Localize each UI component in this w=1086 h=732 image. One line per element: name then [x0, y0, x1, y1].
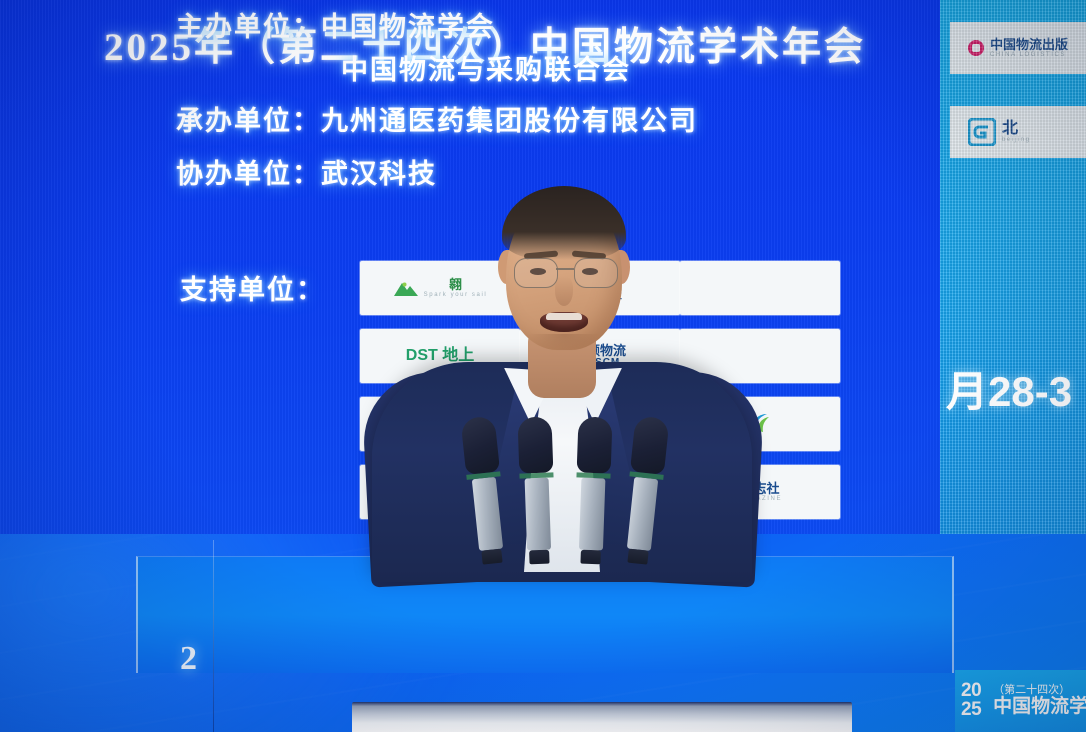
microphone-1 — [460, 416, 509, 566]
credit-row-host: 主办单位：中国物流学会 — [176, 14, 936, 41]
credit-row-host2: 中国物流与采购联合会 — [341, 57, 936, 84]
g-icon — [968, 118, 996, 146]
right-tile-beijing: 北 beijing — [950, 106, 1086, 158]
speaker-hair — [502, 186, 626, 260]
right-panel-date: 月28-3 — [946, 358, 1072, 419]
glasses-lens-left — [514, 258, 558, 288]
microphone-4-base — [627, 549, 648, 565]
right-press-name: 中国物流出版 — [990, 38, 1068, 52]
support-units-label: 支持单位： — [180, 268, 325, 307]
right-beijing-name: 北 — [1002, 121, 1018, 138]
microphone-2-base — [529, 550, 549, 565]
speaking-podium — [352, 702, 852, 732]
microphone-3 — [573, 416, 612, 564]
press-circle-icon — [968, 40, 984, 56]
credit-label-coorganizer: 协办单位： — [176, 159, 321, 189]
ghost-year-text: 2 — [180, 640, 197, 678]
screen-seam — [213, 540, 214, 732]
glasses-bridge — [556, 268, 574, 270]
right-press-tagline: CHINA LOGISTICS — [990, 52, 1066, 58]
microphone-3-foam — [577, 416, 613, 473]
conference-photo: 主办单位：中国物流学会 中国物流与采购联合会 承办单位：九州通医药集团股份有限公… — [0, 0, 1086, 732]
corner-watermark: 20 25 （第二十四次） 中国物流学 — [955, 670, 1086, 732]
credit-value-host2: 中国物流与采购联合会 — [341, 55, 631, 85]
credit-label-host: 主办单位： — [176, 12, 321, 42]
microphone-1-body — [472, 477, 503, 551]
watermark-title: 中国物流学 — [993, 697, 1086, 718]
microphone-2-body — [525, 478, 551, 551]
microphone-1-foam — [460, 416, 500, 475]
watermark-textblock: （第二十四次） 中国物流学 — [993, 684, 1086, 719]
microphone-1-base — [481, 549, 502, 565]
microphone-4-body — [627, 477, 658, 551]
credit-label-organizer: 承办单位： — [176, 106, 321, 136]
speaker-chin-shadow — [528, 334, 600, 352]
microphone-4-foam — [630, 416, 670, 475]
microphone-2-ring — [519, 472, 553, 478]
credit-value-host: 中国物流学会 — [321, 12, 495, 42]
speaker-teeth — [546, 313, 582, 320]
microphone-3-base — [580, 550, 600, 565]
watermark-year: 20 25 — [961, 682, 981, 719]
watermark-year-bottom: 25 — [961, 701, 981, 720]
microphone-4 — [620, 416, 669, 566]
right-led-panel: 中国物流出版 CHINA LOGISTICS 北 beijing 月28-3 — [940, 0, 1086, 534]
right-beijing-tagline: beijing — [1002, 137, 1031, 143]
speaker-nose — [555, 276, 573, 306]
microphone-2 — [517, 416, 556, 564]
credit-row-organizer: 承办单位：九州通医药集团股份有限公司 — [176, 108, 936, 135]
right-tile-press: 中国物流出版 CHINA LOGISTICS — [950, 22, 1086, 74]
microphone-3-body — [579, 478, 605, 551]
right-beijing-textblock: 北 beijing — [1002, 121, 1031, 144]
right-press-textblock: 中国物流出版 CHINA LOGISTICS — [990, 38, 1068, 58]
credit-value-organizer: 九州通医药集团股份有限公司 — [321, 106, 698, 136]
glasses-lens-right — [574, 258, 618, 288]
podium-microphones — [468, 414, 688, 564]
microphone-2-foam — [517, 416, 553, 473]
